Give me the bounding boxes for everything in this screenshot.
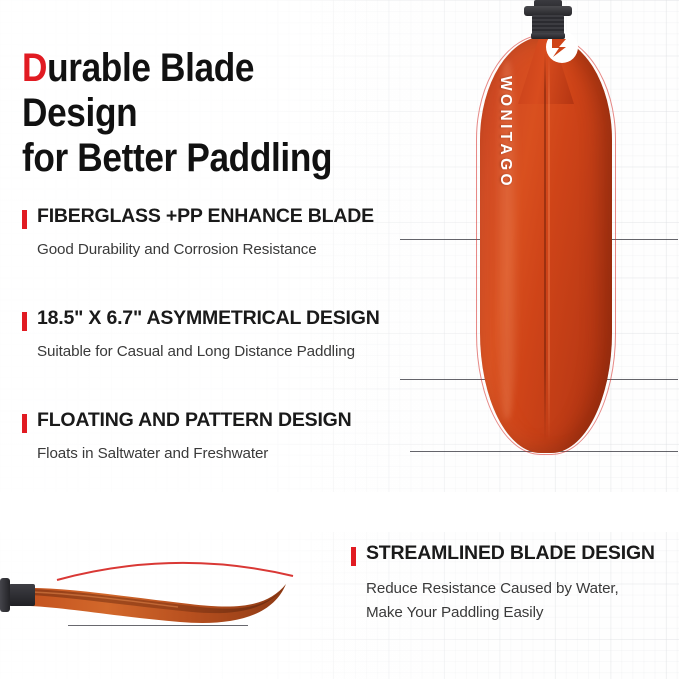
brand-name-vertical: WONITAGO [492, 76, 514, 236]
profile-ferrule-body [9, 584, 35, 606]
feature-title: 18.5" X 6.7" ASYMMETRICAL DESIGN [37, 307, 422, 330]
headline-line2: for Better Paddling [22, 136, 332, 180]
bullet-bar-icon [22, 414, 27, 433]
profile-ferrule [0, 578, 34, 612]
ferrule-ring [531, 33, 565, 39]
feature-subtitle: Floats in Saltwater and Freshwater [37, 443, 422, 465]
infographic-canvas: Durable Blade Design for Better Paddling… [0, 0, 679, 679]
feature-subtitle: Good Durability and Corrosion Resistance [37, 239, 422, 261]
bullet-bar-icon [22, 210, 27, 229]
blade-center-ridge-highlight [548, 52, 550, 442]
feature-title: FLOATING AND PATTERN DESIGN [37, 409, 422, 432]
feature-item-streamlined: STREAMLINED BLADE DESIGN Reduce Resistan… [351, 542, 679, 624]
feature-item-fiberglass: FIBERGLASS +PP ENHANCE BLADE Good Durabi… [22, 205, 422, 261]
section-divider [0, 492, 679, 532]
headline-line1: urable Blade Design [22, 46, 254, 135]
blade-center-ridge [544, 52, 546, 442]
bullet-bar-icon [22, 312, 27, 331]
paddle-ferrule [530, 0, 566, 44]
feature-item-asymmetrical: 18.5" X 6.7" ASYMMETRICAL DESIGN Suitabl… [22, 307, 422, 363]
profile-ferrule-cap [0, 578, 10, 612]
feature-title: FIBERGLASS +PP ENHANCE BLADE [37, 205, 422, 228]
feature-subtitle: Reduce Resistance Caused by Water, Make … [366, 577, 679, 624]
feature-subtitle: Suitable for Casual and Long Distance Pa… [37, 341, 422, 363]
paddle-blade-front-view: WONITAGO [432, 0, 679, 480]
profile-reference-line [68, 625, 248, 626]
blade-profile-shape [0, 548, 345, 658]
ferrule-body [532, 15, 564, 35]
page-title: Durable Blade Design for Better Paddling [22, 46, 365, 180]
paddle-blade-profile-view [0, 548, 345, 658]
feature-item-floating: FLOATING AND PATTERN DESIGN Floats in Sa… [22, 409, 422, 465]
feature-title: STREAMLINED BLADE DESIGN [366, 542, 679, 565]
bullet-bar-icon [351, 547, 356, 566]
headline-accent-letter: D [22, 46, 47, 90]
